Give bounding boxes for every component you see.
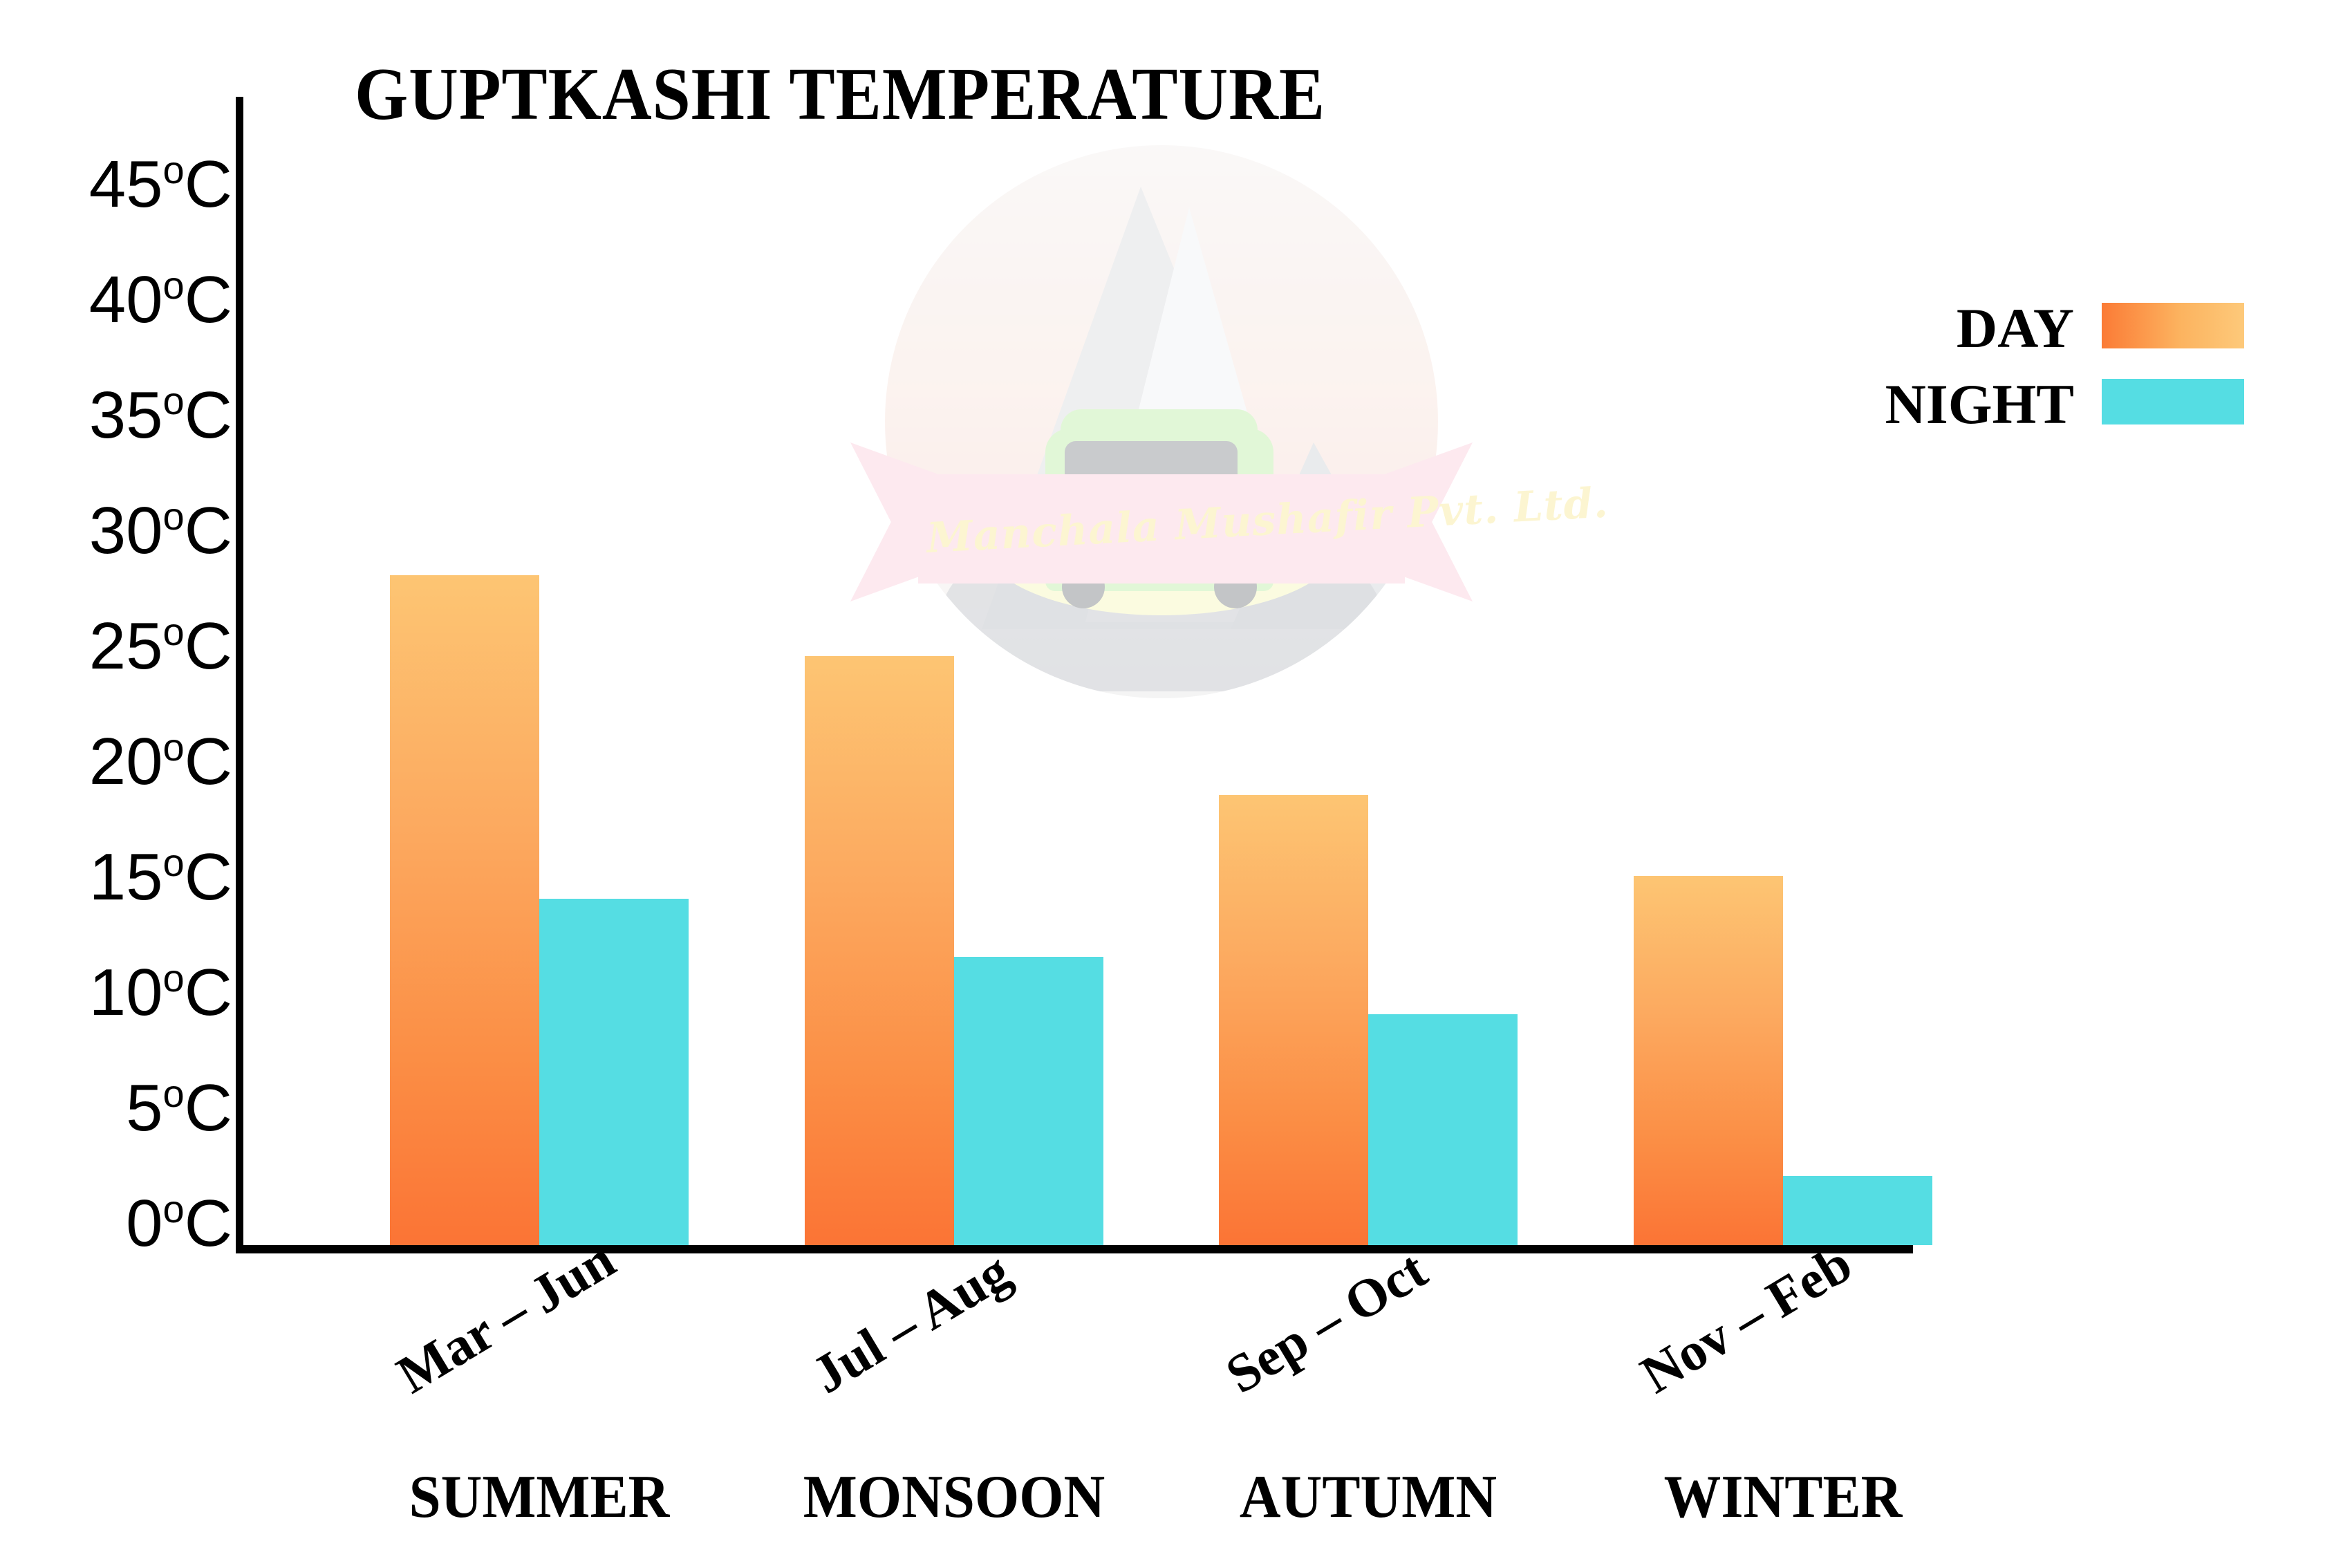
y-tick-value: 35 [89, 378, 163, 452]
bar-day[interactable] [805, 656, 954, 1245]
bar-group [1634, 97, 1932, 1245]
y-tick-unit: C [185, 1186, 232, 1260]
y-axis-line [236, 97, 243, 1253]
y-tick-label: 15oC [25, 830, 232, 911]
degree-symbol: o [163, 610, 185, 653]
y-tick-value: 5 [126, 1071, 162, 1145]
y-tick-value: 45 [89, 147, 163, 221]
y-tick-unit: C [185, 725, 232, 799]
y-tick-value: 20 [89, 725, 163, 799]
degree-symbol: o [163, 1072, 185, 1115]
bar-group [390, 97, 689, 1245]
y-tick-unit: C [185, 378, 232, 452]
y-tick-label: 10oC [25, 945, 232, 1026]
temperature-bar-chart: GUPTKASHI TEMPERATURE Manchala Mushafir … [0, 0, 2352, 1568]
bar-group [805, 97, 1103, 1245]
bar-day[interactable] [390, 575, 539, 1245]
degree-symbol: o [163, 841, 185, 884]
bar-day[interactable] [1634, 876, 1783, 1245]
x-axis-season-label: MONSOON [753, 1462, 1156, 1532]
y-tick-label: 20oC [25, 714, 232, 795]
y-tick-unit: C [185, 263, 232, 337]
x-axis-season-label: SUMMER [338, 1462, 741, 1532]
legend-swatch-night [2102, 379, 2244, 424]
y-tick-unit: C [185, 147, 232, 221]
bar-night[interactable] [1368, 1014, 1518, 1245]
degree-symbol: o [163, 725, 185, 769]
y-tick-value: 40 [89, 263, 163, 337]
y-tick-unit: C [185, 840, 232, 914]
y-tick-label: 5oC [25, 1061, 232, 1141]
y-tick-label: 25oC [25, 599, 232, 680]
legend-label-night: NIGHT [1867, 372, 2074, 437]
y-tick-value: 10 [89, 955, 163, 1029]
y-tick-value: 30 [89, 494, 163, 568]
x-axis-range-label: Jul – Aug [801, 1240, 1021, 1406]
y-tick-label: 35oC [25, 368, 232, 449]
x-axis-range-label: Mar – Jun [386, 1228, 626, 1406]
x-axis-season-label: AUTUMN [1167, 1462, 1570, 1532]
y-tick-label: 40oC [25, 252, 232, 333]
legend-item-night: NIGHT [1867, 366, 2254, 442]
x-axis-season-label: WINTER [1582, 1462, 1985, 1532]
bar-night[interactable] [954, 957, 1103, 1246]
y-tick-unit: C [185, 609, 232, 683]
legend-label-day: DAY [1867, 296, 2074, 361]
y-tick-value: 0 [126, 1186, 162, 1260]
y-tick-label: 0oC [25, 1176, 232, 1257]
legend-item-day: DAY [1867, 290, 2254, 366]
legend: DAY NIGHT [1867, 290, 2254, 442]
legend-swatch-day [2102, 303, 2244, 348]
plot-area [243, 97, 1913, 1245]
y-tick-unit: C [185, 955, 232, 1029]
degree-symbol: o [163, 263, 185, 307]
y-tick-unit: C [185, 1071, 232, 1145]
degree-symbol: o [163, 379, 185, 422]
degree-symbol: o [163, 148, 185, 192]
bar-day[interactable] [1219, 795, 1368, 1245]
bar-night[interactable] [539, 899, 689, 1245]
degree-symbol: o [163, 956, 185, 1000]
y-tick-value: 25 [89, 609, 163, 683]
y-tick-label: 45oC [25, 137, 232, 218]
x-axis-range-label: Nov – Feb [1630, 1232, 1863, 1406]
y-tick-unit: C [185, 494, 232, 568]
x-axis-line [236, 1245, 1913, 1253]
bar-group [1219, 97, 1518, 1245]
x-axis-range-label: Sep – Oct [1215, 1238, 1437, 1406]
degree-symbol: o [163, 1187, 185, 1231]
degree-symbol: o [163, 494, 185, 538]
y-tick-label: 30oC [25, 483, 232, 564]
bar-night[interactable] [1783, 1176, 1932, 1245]
y-tick-value: 15 [89, 840, 163, 914]
